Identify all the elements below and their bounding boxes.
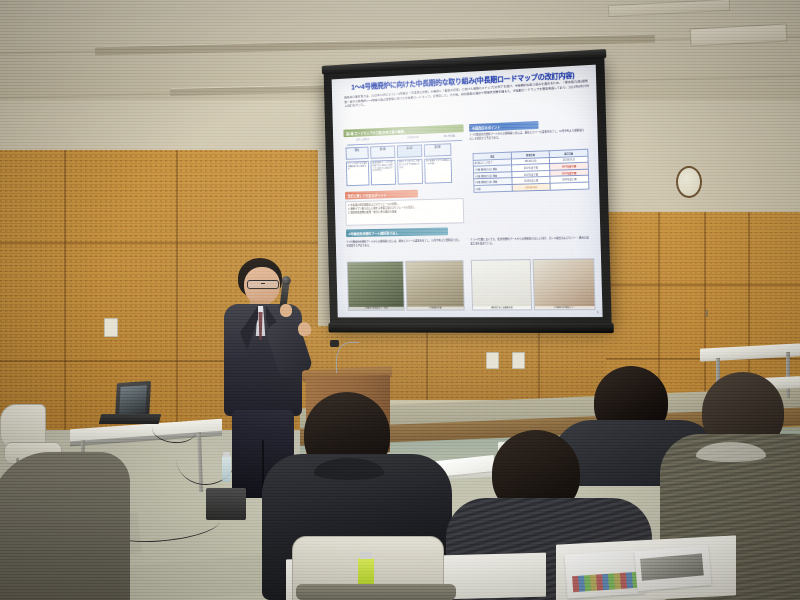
podium-microphone-icon (330, 340, 339, 347)
slide-photo-2: 燃料取り出し設備概念図 (471, 259, 532, 310)
wall-clock (676, 166, 702, 198)
roadmap-note-1: 使用済燃料プール内の燃料取り出し開始から燃料デブリ取り出し開始まで(10年以内) (371, 160, 397, 186)
projection-screen: 1～4号機廃炉に向けた中長期的な取り組み(中長期ロードマップの改訂内容) 政府及… (324, 56, 612, 326)
power-outlet[interactable] (512, 352, 525, 369)
document-color-thumbnails (572, 572, 637, 592)
roadmap-axis-label-2: 30～40年後 (444, 133, 456, 137)
document-photo (640, 553, 704, 580)
roadmap-note-3: 廃止措置終了までの期間(30～40年後) (424, 158, 452, 184)
photo-caption-1: 4号機構台外観 (407, 307, 463, 310)
fuel-note-0: ※ 4号機使用済燃料プールからの燃料取り出しは、構台とカバーの設置を完了し、11… (346, 239, 461, 248)
slide-page-number: 1 (597, 310, 599, 314)
handout-document (634, 545, 711, 591)
section-header-revision: 今回改訂のポイント (469, 121, 539, 132)
presenter-mic-hand (280, 304, 292, 317)
roadmap-phase-2: 第2期 (397, 144, 422, 157)
slide-photo-3: 1号機原子炉建屋カバー (533, 258, 596, 310)
water-bottle (222, 456, 231, 482)
row-label: 4号機 (474, 184, 513, 192)
roadmap-phase-1: 第1期 (370, 146, 395, 159)
photo-caption-3: 1号機原子炉建屋カバー (535, 306, 595, 309)
slide-content: 1～4号機廃炉に向けた中長期的な取り組み(中長期ロードマップの改訂内容) 政府及… (332, 65, 603, 318)
slide-photo-1: 4号機構台外観 (405, 260, 465, 311)
photo-scene: 1～4号機廃炉に向けた中長期的な取り組み(中長期ロードマップの改訂内容) 政府及… (0, 0, 800, 600)
bottle-cap (360, 552, 372, 559)
section-header-points: 改訂に際しての主なポイント (345, 190, 418, 200)
roadmap-note-0: ステップ2完了から使用済燃料取り出し開始まで (346, 161, 369, 186)
fuel-note-1: ※ 1～3号機においても、使用済燃料プールからの燃料取り出しに向け、ガレキ撤去お… (470, 236, 590, 246)
laptop-screen[interactable] (119, 385, 147, 415)
section-header-fuel: 4号機使用済燃料プール燃料取り出し (346, 227, 448, 237)
audience-torso (0, 452, 130, 600)
row-old: 2013年11月 (512, 183, 550, 191)
bottle-cap (223, 452, 230, 457)
equipment-case (206, 488, 246, 520)
presenter-gesturing-hand (297, 321, 313, 337)
row-new (550, 182, 589, 190)
eyeglasses (247, 280, 279, 289)
photo-caption-2: 燃料取り出し設備概念図 (473, 306, 531, 309)
door-handle[interactable] (705, 310, 708, 317)
slide-photo-0: 4号機原子炉建屋カバー内部 (347, 261, 405, 311)
comparison-table: 項目 従来計画 改訂計画 第1期ステップ完了 2013年11月 2013年11月… (473, 149, 590, 193)
roadmap-note-2: 燃料デブリ取り出しが開始されるまでの期間(2年以内) (397, 159, 423, 185)
power-outlet[interactable] (486, 352, 499, 369)
laptop-keyboard-base[interactable] (99, 414, 161, 424)
screen-bottom-bar (328, 323, 614, 333)
handout-document (565, 549, 646, 598)
photo-caption-0: 4号機原子炉建屋カバー内部 (349, 307, 404, 310)
roadmap-phase-3: 第3期 (424, 143, 452, 157)
chair-frame[interactable] (296, 584, 456, 600)
roadmap-axis-label-0: ステップ2完了 (356, 137, 370, 141)
audience-member-far-left (0, 452, 120, 600)
roadmap-axis-label-1: 2013年11月 (407, 135, 418, 139)
gooseneck-microphone-arm (336, 342, 359, 373)
roadmap-phase-0: 現在 (346, 147, 369, 160)
light-switch[interactable] (104, 318, 118, 337)
